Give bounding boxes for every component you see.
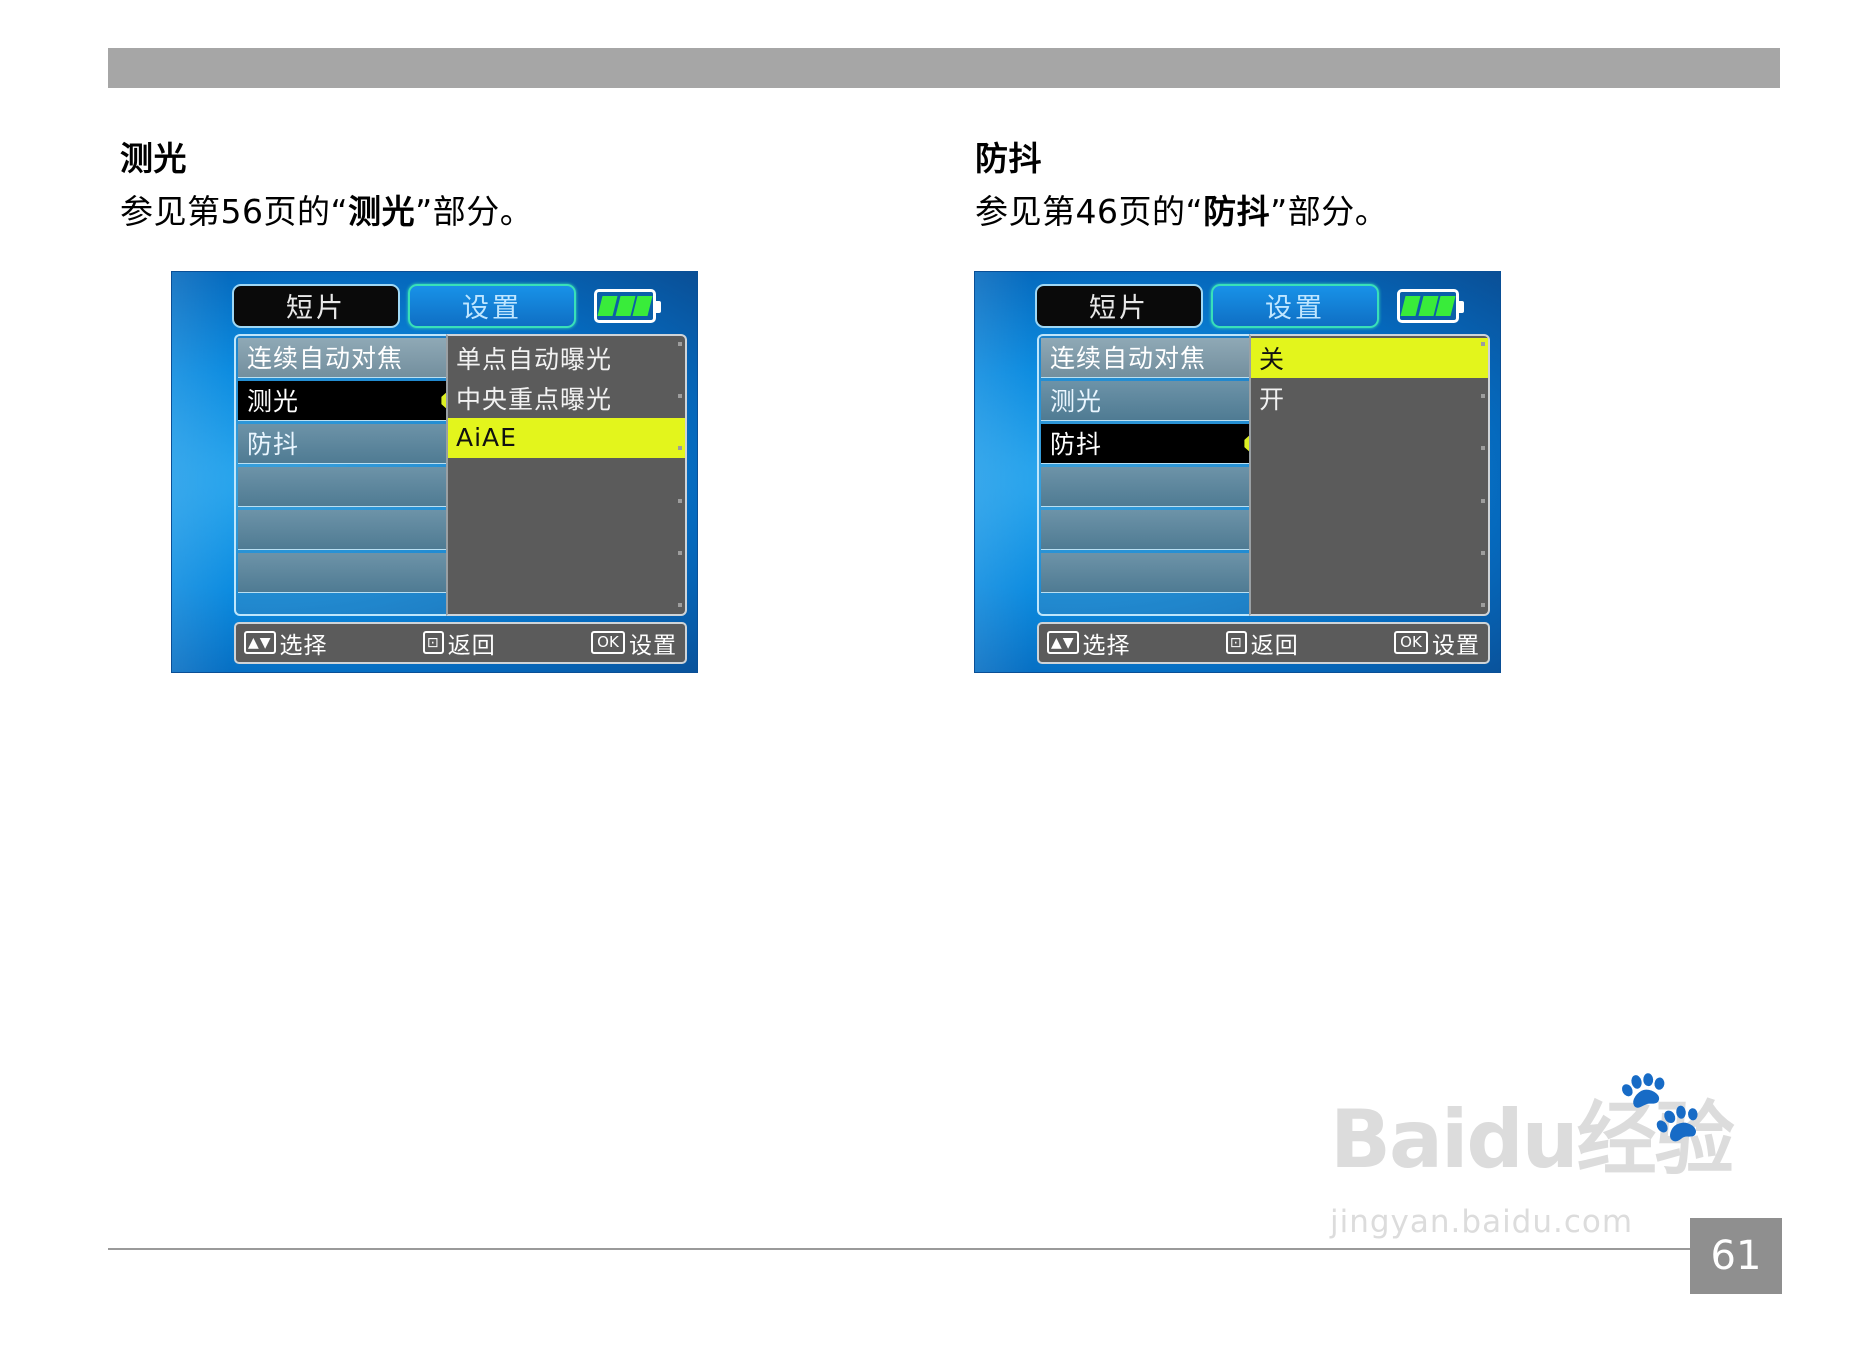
quote-close: ” [1270,192,1288,231]
option-off[interactable]: 关 [1251,338,1488,378]
menu-item-stabilizer[interactable]: 防抖 [1041,424,1249,464]
scroll-dot [678,499,682,503]
scroll-indicator [678,342,682,608]
camera-lcd-screenshot-metering: 短片 设置 连续自动对焦 测光 防抖 [172,272,697,672]
menu-key-icon: ⊡ [423,631,444,654]
header-rule [108,48,1780,88]
tab-setup[interactable]: 设置 [1211,284,1379,328]
tab-movie[interactable]: 短片 [1035,284,1203,328]
battery-cell [1418,296,1438,316]
menu-item-label: 连续自动对焦 [1050,339,1206,375]
battery-cell [615,296,635,316]
hint-select-label: 选择 [280,626,328,660]
scroll-dot [1481,446,1485,450]
lcd-tab-bar: 短片 设置 [1035,282,1492,330]
section-metering: 测光 参见第56页的“测光”部分。 短片 设置 连续自动对焦 测光 [120,140,920,672]
dpad-updown-icon: ▲▼ [244,631,276,654]
option-spot-ae[interactable]: 单点自动曝光 [448,338,685,378]
paw-print-icon: 🐾 [1617,1064,1704,1147]
hint-back: ⊡ 返回 [1226,626,1299,660]
quote-open: “ [331,192,349,231]
hint-confirm: OK 设置 [1394,626,1480,660]
tab-movie-label: 短片 [286,286,346,325]
body-suffix: 部分。 [433,192,534,231]
option-list: 单点自动曝光 中央重点曝光 AiAE [446,334,687,616]
menu-item-continuous-af[interactable]: 连续自动对焦 [1041,338,1249,378]
hint-select: ▲▼ 选择 [244,626,328,660]
menu-item-blank [238,467,446,507]
menu-item-blank [1041,467,1249,507]
battery-cell [598,296,618,316]
section-body: 参见第46页的“防抖”部分。 [975,192,1775,232]
scroll-dot [678,394,682,398]
option-on[interactable]: 开 [1251,378,1488,418]
body-term: 测光 [348,192,415,231]
section-body: 参见第56页的“测光”部分。 [120,192,920,232]
option-label: 中央重点曝光 [456,380,612,416]
section-title: 测光 [120,140,920,178]
menu-item-label: 测光 [247,382,299,418]
ok-key-icon: OK [591,631,625,654]
menu-item-label: 连续自动对焦 [247,339,403,375]
menu-item-metering[interactable]: 测光 [1041,381,1249,421]
hint-select: ▲▼ 选择 [1047,626,1131,660]
footer-rule [108,1248,1780,1250]
option-label: 单点自动曝光 [456,340,612,376]
battery-full-icon [1397,289,1459,323]
lcd-menu-body: 连续自动对焦 测光 防抖 关 [1037,334,1490,616]
hint-confirm-label: 设置 [629,626,677,660]
quote-close: ” [415,192,433,231]
option-aiae[interactable]: AiAE [448,418,685,458]
quote-open: “ [1186,192,1204,231]
hint-select-label: 选择 [1083,626,1131,660]
hint-confirm-label: 设置 [1432,626,1480,660]
scroll-dot [1481,499,1485,503]
tab-setup[interactable]: 设置 [408,284,576,328]
menu-item-label: 测光 [1050,382,1102,418]
menu-item-label: 防抖 [1050,425,1102,461]
battery-cell [1436,296,1456,316]
tab-movie[interactable]: 短片 [232,284,400,328]
scroll-indicator [1481,342,1485,608]
lcd-menu-body: 连续自动对焦 测光 防抖 单 [234,334,687,616]
watermark-main: Baidu经验 [1330,1100,1800,1180]
menu-list: 连续自动对焦 测光 防抖 [234,334,446,616]
battery-cell [1401,296,1421,316]
page-number: 61 [1690,1218,1782,1294]
ok-key-icon: OK [1394,631,1428,654]
option-center-weighted-ae[interactable]: 中央重点曝光 [448,378,685,418]
menu-item-blank [1041,510,1249,550]
lcd-hint-bar: ▲▼ 选择 ⊡ 返回 OK 设置 [1037,622,1490,664]
section-title: 防抖 [975,140,1775,178]
scroll-dot [678,551,682,555]
scroll-dot [678,446,682,450]
menu-item-blank [238,510,446,550]
section-stabilizer: 防抖 参见第46页的“防抖”部分。 短片 设置 连续自动对焦 测光 [975,140,1775,672]
hint-back-label: 返回 [448,626,496,660]
lcd-hint-bar: ▲▼ 选择 ⊡ 返回 OK 设置 [234,622,687,664]
option-label: AiAE [456,423,517,452]
menu-key-icon: ⊡ [1226,631,1247,654]
tab-setup-label: 设置 [462,286,522,325]
menu-item-label: 防抖 [247,425,299,461]
scroll-dot [678,342,682,346]
body-prefix: 参见第56页的 [120,192,331,231]
hint-confirm: OK 设置 [591,626,677,660]
tab-movie-label: 短片 [1089,286,1149,325]
menu-item-blank [1041,553,1249,593]
scroll-dot [1481,551,1485,555]
scroll-dot [1481,603,1485,607]
menu-item-stabilizer[interactable]: 防抖 [238,424,446,464]
battery-cell [633,296,653,316]
option-label: 关 [1259,340,1285,376]
battery-full-icon [594,289,656,323]
hint-back-label: 返回 [1251,626,1299,660]
menu-item-metering[interactable]: 测光 [238,381,446,421]
scroll-dot [678,603,682,607]
body-prefix: 参见第46页的 [975,192,1186,231]
menu-item-blank [238,553,446,593]
menu-list: 连续自动对焦 测光 防抖 [1037,334,1249,616]
scroll-dot [1481,394,1485,398]
menu-item-continuous-af[interactable]: 连续自动对焦 [238,338,446,378]
option-list: 关 开 [1249,334,1490,616]
hint-back: ⊡ 返回 [423,626,496,660]
scroll-dot [1481,342,1485,346]
dpad-updown-icon: ▲▼ [1047,631,1079,654]
body-term: 防抖 [1203,192,1270,231]
lcd-tab-bar: 短片 设置 [232,282,689,330]
option-label: 开 [1259,380,1285,416]
camera-lcd-screenshot-stabilizer: 短片 设置 连续自动对焦 测光 防抖 [975,272,1500,672]
tab-setup-label: 设置 [1265,286,1325,325]
body-suffix: 部分。 [1288,192,1389,231]
